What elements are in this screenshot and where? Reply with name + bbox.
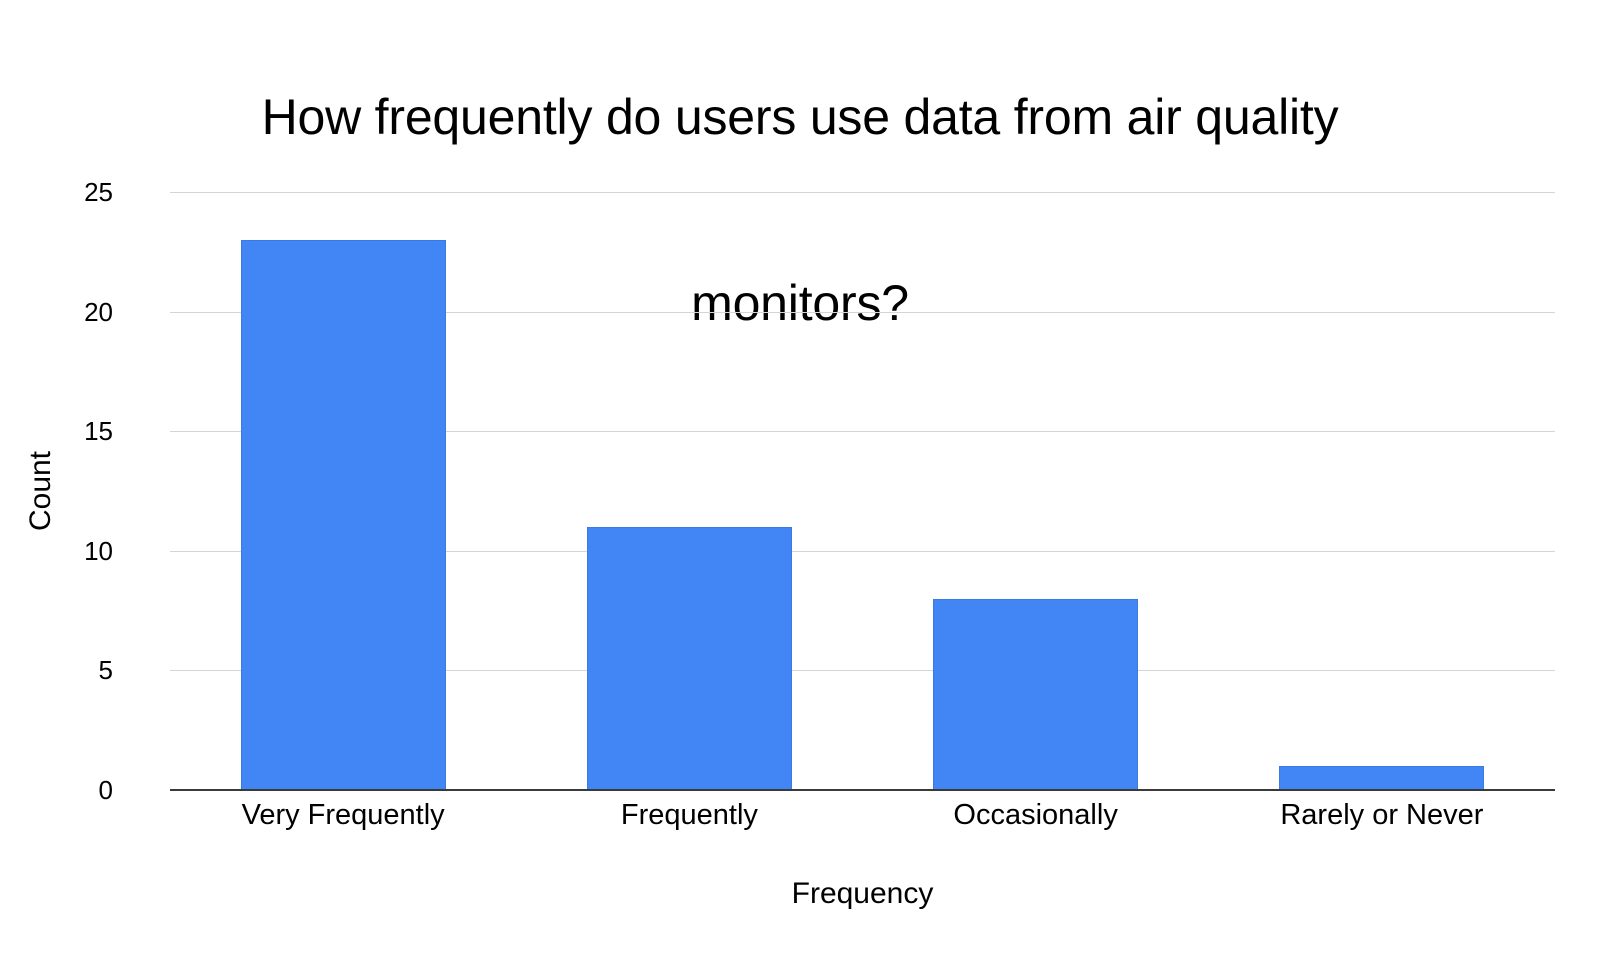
y-axis-title: Count (18, 192, 64, 790)
bar[interactable] (1279, 766, 1484, 790)
chart-title-line-1: How frequently do users use data from ai… (262, 89, 1339, 145)
x-tick-label: Rarely or Never (1280, 795, 1483, 835)
x-axis-line (170, 789, 1555, 791)
y-axis-title-label: Count (26, 451, 56, 531)
y-tick-label: 20 (33, 299, 113, 325)
bars-group (170, 192, 1555, 790)
bar[interactable] (933, 599, 1138, 790)
x-axis-title-label: Frequency (792, 877, 934, 910)
x-tick-label: Very Frequently (242, 795, 445, 835)
x-axis-title: Frequency (170, 875, 1555, 913)
y-tick-label: 15 (33, 418, 113, 444)
bar[interactable] (587, 527, 792, 790)
y-tick-label: 5 (33, 657, 113, 683)
plot-area: 0510152025 (170, 192, 1555, 790)
y-tick-label: 10 (33, 538, 113, 564)
x-tick-label: Frequently (621, 795, 758, 835)
y-tick-label: 0 (33, 777, 113, 803)
y-tick-label: 25 (33, 179, 113, 205)
bar[interactable] (241, 240, 446, 790)
bar-chart: How frequently do users use data from ai… (0, 0, 1600, 974)
x-tick-label: Occasionally (953, 795, 1117, 835)
